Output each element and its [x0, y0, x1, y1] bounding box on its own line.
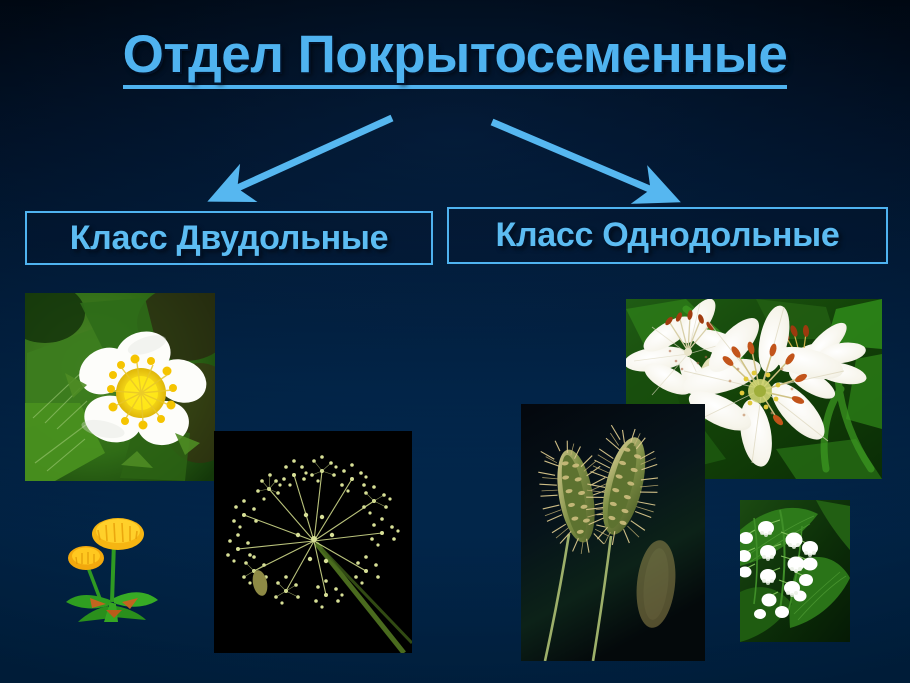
slide-title: Отдел Покрытосеменные: [123, 28, 788, 89]
presentation-slide: Отдел Покрытосеменные Класс Двудольные К…: [0, 0, 910, 683]
strawberry-flower-photo: [25, 293, 215, 481]
dill-umbel-photo: [214, 431, 412, 653]
foxtail-grass-photo: [521, 404, 705, 661]
class-label-monocots: Класс Однодольные: [496, 216, 840, 255]
class-box-dicots: Класс Двудольные: [25, 211, 433, 265]
slide-title-container: Отдел Покрытосеменные: [0, 28, 910, 89]
lily-of-the-valley-photo: [740, 500, 850, 642]
dandelion-illustration: [60, 510, 164, 622]
class-label-dicots: Класс Двудольные: [70, 219, 389, 258]
class-box-monocots: Класс Однодольные: [447, 207, 888, 264]
